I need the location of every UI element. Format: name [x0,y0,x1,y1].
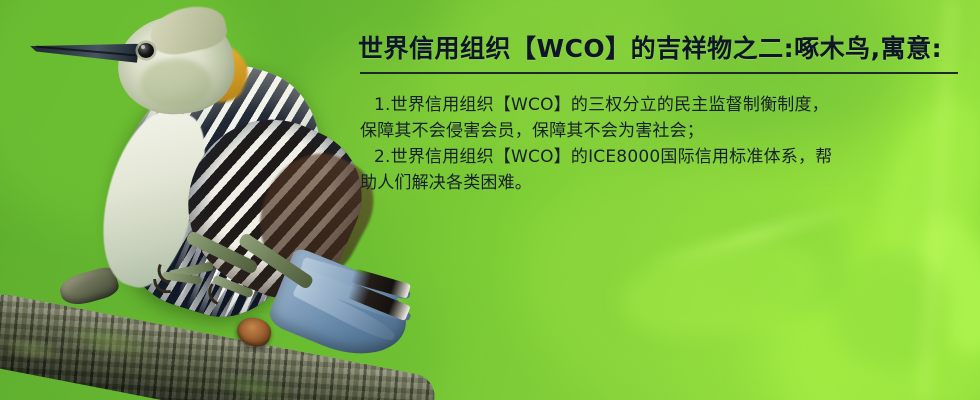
body-line: 助人们解决各类困难。 [360,170,974,196]
body-line: 保障其不会侵害会员，保障其不会为害社会； [360,118,974,144]
bird-cheek [140,58,212,110]
title-divider [360,72,958,74]
bird-eye-glint [141,45,145,49]
wco-mascot-banner: 世界信用组织【WCO】的吉祥物之二:啄木鸟,寓意: 1.世界信用组织【WCO】的… [0,0,980,400]
banner-body: 1.世界信用组织【WCO】的三权分立的民主监督制衡制度， 保障其不会侵害会员，保… [360,92,974,196]
banner-title: 世界信用组织【WCO】的吉祥物之二:啄木鸟,寓意: [358,29,942,65]
body-line: 1.世界信用组织【WCO】的三权分立的民主监督制衡制度， [360,92,974,118]
body-line: 2.世界信用组织【WCO】的ICE8000国际信用标准体系，帮 [360,144,974,170]
bird-claw [153,277,171,295]
text-column: 世界信用组织【WCO】的吉祥物之二:啄木鸟,寓意: 1.世界信用组织【WCO】的… [352,0,980,400]
bird-feet [150,228,340,328]
